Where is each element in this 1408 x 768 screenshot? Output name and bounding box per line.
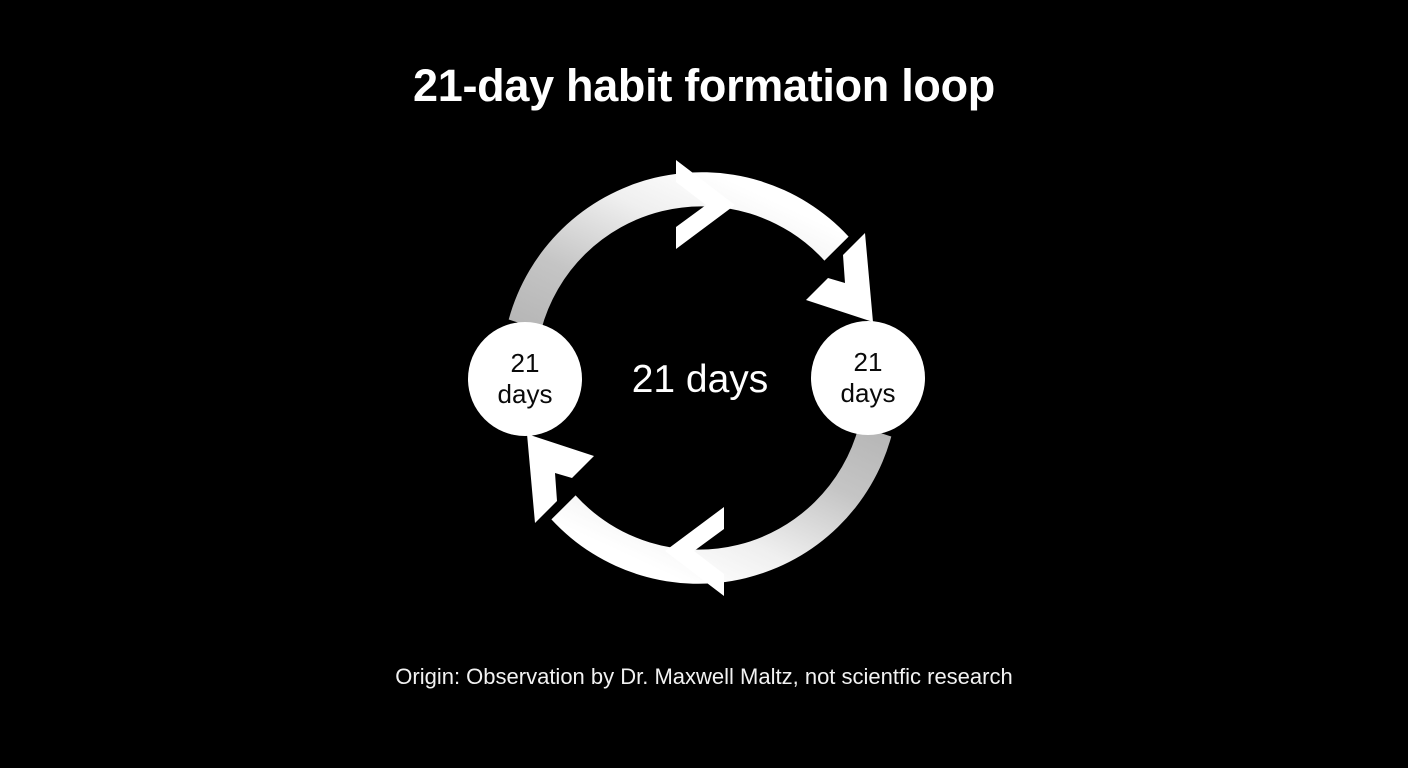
slide-canvas: 21-day habit formation loop [0, 0, 1408, 768]
center-label: 21 days [632, 358, 769, 401]
top-arc-arrow [509, 160, 873, 330]
bottom-arc-band [551, 426, 891, 584]
left-node-line1: 21 [511, 348, 540, 378]
source-caption: Origin: Observation by Dr. Maxwell Maltz… [0, 662, 1408, 692]
node-left-21-days[interactable]: 21 days [468, 322, 582, 436]
right-node-line1: 21 [854, 347, 883, 377]
top-arc-band [509, 172, 849, 330]
habit-loop-diagram: 21 days 21 days 21 days [0, 0, 1408, 768]
node-right-21-days[interactable]: 21 days [811, 321, 925, 435]
left-node-line2: days [498, 379, 553, 409]
bottom-arc-arrow [527, 426, 891, 596]
right-node-line2: days [841, 378, 896, 408]
